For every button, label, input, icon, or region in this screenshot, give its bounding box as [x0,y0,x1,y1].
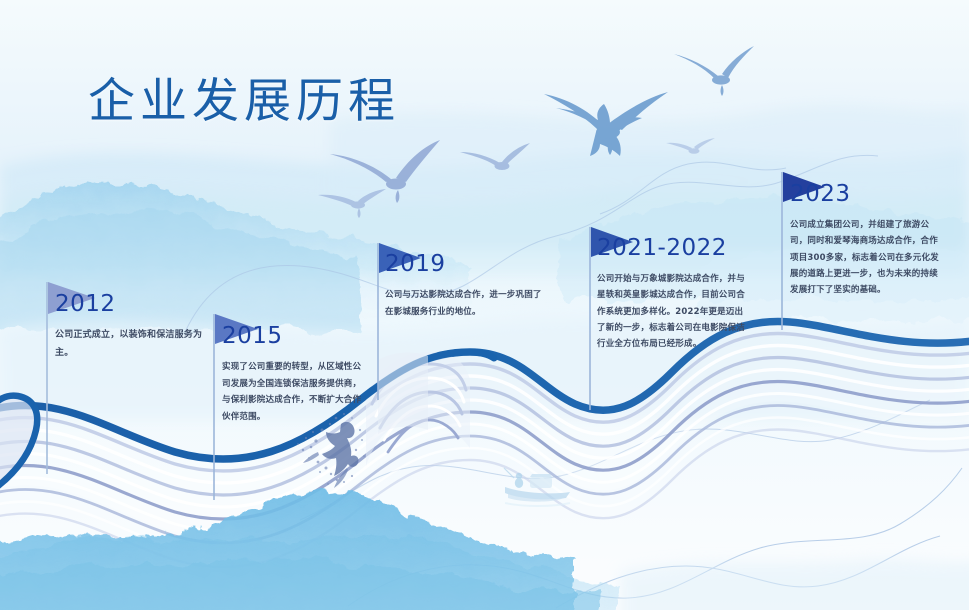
milestone-2012: 2012 公司正式成立，以装饰和保洁服务为主。 [55,292,205,362]
milestone-desc-2012: 公司正式成立，以装饰和保洁服务为主。 [55,327,205,362]
page-title: 企业发展历程 [88,62,400,131]
watercolor-mountain-layer [0,491,620,610]
milestone-year-2012: 2012 [55,292,205,317]
milestone-desc-2015: 实现了公司重要的转型，从区域性公司发展为全国连锁保洁服务提供商，与保利影院达成合… [222,359,362,425]
milestone-desc-2021-2022: 公司开始与万象城影院达成合作，并与星轶和英皇影城达成合作，目前公司合作系统更加多… [597,271,747,352]
poster-canvas: 企业发展历程 2012 公司正式成立，以装饰和保洁服务为主。 2015 实现了公… [0,0,969,610]
fishing-boat-icon [504,468,570,506]
seagull-far-icon [318,189,386,218]
milestone-year-2023: 2023 [790,182,940,207]
milestone-2021-2022: 2021-2022 公司开始与万象城影院达成合作，并与星轶和英皇影城达成合作，目… [597,236,747,352]
seagull-small-icon [460,143,530,170]
ribbon-twist-left [0,396,37,490]
milestone-2019: 2019 公司与万达影院达成合作，进一步巩固了在影城服务行业的地位。 [385,252,545,320]
lower-decorative-curve [348,468,962,608]
seagull-upper-right-icon [674,46,754,96]
milestone-year-2015: 2015 [222,324,362,349]
seagull-tiny-icon [666,138,715,154]
milestone-year-2021-2022: 2021-2022 [597,236,747,261]
bottom-right-mist [620,559,969,610]
milestone-year-2019: 2019 [385,252,545,277]
seagull-large-icon [544,92,668,156]
ribbon-twist-center [360,352,494,466]
milestone-desc-2019: 公司与万达影院达成合作，进一步巩固了在影城服务行业的地位。 [385,287,545,320]
milestone-2023: 2023 公司成立集团公司，并组建了旅游公司，同时和爱琴海商场达成合作，合作项目… [790,182,940,298]
milestone-2015: 2015 实现了公司重要的转型，从区域性公司发展为全国连锁保洁服务提供商，与保利… [222,324,362,426]
ribbon-roll-right [378,353,428,434]
milestone-desc-2023: 公司成立集团公司，并组建了旅游公司，同时和爱琴海商场达成合作，合作项目300多家… [790,217,940,298]
seagull-medium-icon [330,140,440,203]
